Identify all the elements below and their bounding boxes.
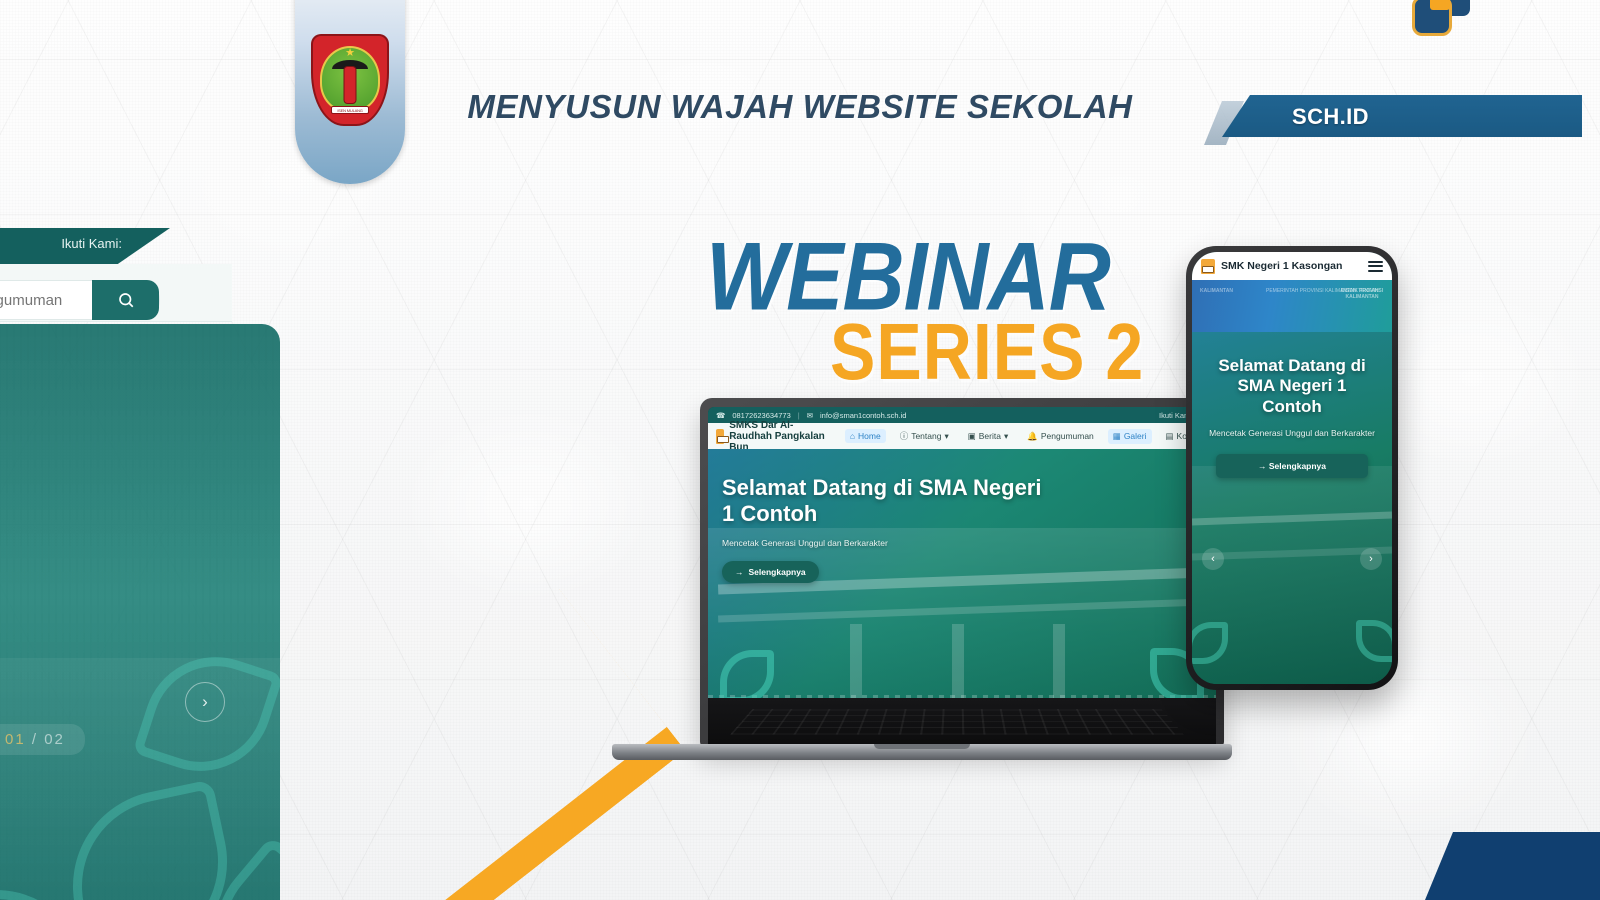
left-panel-nav-area xyxy=(0,264,232,322)
carousel-current: 01 xyxy=(5,731,26,748)
hero-title: Selamat Datang di SMA Negeri 1 Contoh xyxy=(722,475,1042,527)
site-hero-section: Selamat Datang di SMA Negeri 1 Contoh Me… xyxy=(708,449,1216,732)
coat-of-arms-icon: ★ ISEN MULANG xyxy=(311,34,389,126)
phone-cta-label: Selengkapnya xyxy=(1269,461,1326,471)
hamburger-menu-icon[interactable] xyxy=(1368,261,1383,272)
phone-screen: SMK Negeri 1 Kasongan KALIMANTAN PEMERIN… xyxy=(1192,252,1392,684)
hero-text-block: Selamat Datang di SMA Negeri 1 Contoh Me… xyxy=(722,475,1042,583)
nav-label: Berita xyxy=(979,431,1001,441)
laptop-base xyxy=(612,744,1232,760)
phone-government-banner: KALIMANTAN PEMERINTAH PROVINSI KALIMANTA… xyxy=(1192,280,1392,332)
chevron-right-icon: › xyxy=(202,692,208,712)
search-input[interactable] xyxy=(0,292,92,309)
laptop-mockup: ☎ 08172623634773 | ✉ info@sman1contoh.sc… xyxy=(612,398,1232,758)
nav-label: Pengumuman xyxy=(1041,431,1094,441)
phone-hero-cta-button[interactable]: → Selengkapnya xyxy=(1216,454,1368,478)
phone-site-title: SMK Negeri 1 Kasongan xyxy=(1221,260,1342,272)
topbar-separator: | xyxy=(798,411,800,420)
phone-hero-text-block: Selamat Datang di SMA Negeri 1 Contoh Me… xyxy=(1192,356,1392,478)
info-icon: ⓘ xyxy=(900,430,909,442)
news-icon: ▣ xyxy=(968,431,976,442)
nav-label: Home xyxy=(858,431,881,441)
carousel-counter: 01 / 02 xyxy=(0,724,85,755)
chevron-left-icon: ‹ xyxy=(1211,553,1215,565)
laptop-keyboard xyxy=(730,709,1183,734)
hero-cta-button[interactable]: → Selengkapnya xyxy=(722,561,819,583)
nav-item-pengumuman[interactable]: 🔔 Pengumuman xyxy=(1022,429,1099,444)
nav-item-galeri[interactable]: ▦ Galeri xyxy=(1108,429,1152,444)
school-book-icon xyxy=(716,429,724,444)
nav-item-tentang[interactable]: ⓘ Tentang ▾ xyxy=(895,428,954,444)
chevron-right-icon: › xyxy=(1369,553,1373,565)
site-navbar: SMKS Dar Al-Raudhah Pangkalan Bun ⌂ Home… xyxy=(708,423,1216,449)
crest-motto-ribbon: ISEN MULANG xyxy=(331,106,369,114)
nav-label: Galeri xyxy=(1124,431,1147,441)
left-website-preview-panel: Ikuti Kami: › 01 / 02 xyxy=(0,228,400,900)
left-panel-search-box[interactable] xyxy=(0,280,160,320)
navy-corner-decoration xyxy=(1425,832,1600,900)
left-panel-hero: › 01 / 02 xyxy=(0,324,280,900)
phone-carousel-prev-button[interactable]: ‹ xyxy=(1202,548,1224,570)
schid-brand-ribbon: SCH.ID xyxy=(1222,95,1582,137)
crest-star-icon: ★ xyxy=(345,48,355,59)
carousel-total: 02 xyxy=(44,731,65,748)
site-email[interactable]: info@sman1contoh.sch.id xyxy=(820,411,906,420)
nav-label: Tentang xyxy=(911,431,941,441)
ribbon-bar-shape xyxy=(1222,95,1582,137)
site-brand-label: SMKS Dar Al-Raudhah Pangkalan Bun xyxy=(729,420,836,453)
left-panel-topbar: Ikuti Kami: xyxy=(0,228,170,264)
laptop-screen: ☎ 08172623634773 | ✉ info@sman1contoh.sc… xyxy=(708,407,1216,732)
home-icon: ⌂ xyxy=(850,431,855,441)
book-icon xyxy=(1201,259,1215,274)
phone-carousel-next-button[interactable]: › xyxy=(1360,548,1382,570)
phone-site-header: SMK Negeri 1 Kasongan xyxy=(1192,252,1392,280)
hero-cta-label: Selengkapnya xyxy=(749,567,806,577)
phone-mockup: SMK Negeri 1 Kasongan KALIMANTAN PEMERIN… xyxy=(1186,246,1398,690)
nav-item-home[interactable]: ⌂ Home xyxy=(845,429,886,443)
email-icon: ✉ xyxy=(807,411,813,420)
contact-icon: ▤ xyxy=(1166,431,1174,442)
site-phone-number[interactable]: 08172623634773 xyxy=(732,411,790,420)
laptop-lid: ☎ 08172623634773 | ✉ info@sman1contoh.sc… xyxy=(700,398,1224,746)
banner-logo-right: DISDIK PROVINSI KALIMANTAN xyxy=(1332,288,1392,300)
headline-series: SERIES 2 xyxy=(830,312,1144,392)
crest-tower-icon xyxy=(344,66,357,104)
carousel-next-button[interactable]: › xyxy=(185,682,225,722)
phone-hero-section: Selamat Datang di SMA Negeri 1 Contoh Me… xyxy=(1192,332,1392,684)
carousel-separator: / xyxy=(32,731,38,748)
schid-brand-label: SCH.ID xyxy=(1292,104,1369,130)
bell-icon: 🔔 xyxy=(1027,431,1038,442)
phone-icon: ☎ xyxy=(716,411,725,420)
site-brand[interactable]: SMKS Dar Al-Raudhah Pangkalan Bun xyxy=(716,420,836,453)
banner-logo-left: KALIMANTAN xyxy=(1200,288,1233,294)
provincial-emblem-shield: ★ ISEN MULANG xyxy=(295,0,405,184)
left-panel-follow-label: Ikuti Kami: xyxy=(61,236,122,251)
schid-logo-icon xyxy=(1412,0,1470,36)
chevron-down-icon: ▾ xyxy=(944,431,948,442)
phone-hero-subtitle: Mencetak Generasi Unggul dan Berkarakter xyxy=(1208,427,1376,440)
search-button[interactable] xyxy=(92,280,159,320)
logo-square-gold xyxy=(1430,0,1450,10)
nav-item-berita[interactable]: ▣ Berita ▾ xyxy=(963,429,1014,444)
phone-hero-title: Selamat Datang di SMA Negeri 1 Contoh xyxy=(1208,356,1376,417)
search-icon xyxy=(117,291,135,309)
arrow-right-icon: → xyxy=(735,567,744,577)
chevron-down-icon: ▾ xyxy=(1004,431,1008,442)
gallery-icon: ▦ xyxy=(1113,431,1121,442)
arrow-right-icon: → xyxy=(1258,461,1267,471)
hero-subtitle: Mencetak Generasi Unggul dan Berkarakter xyxy=(722,538,1042,548)
